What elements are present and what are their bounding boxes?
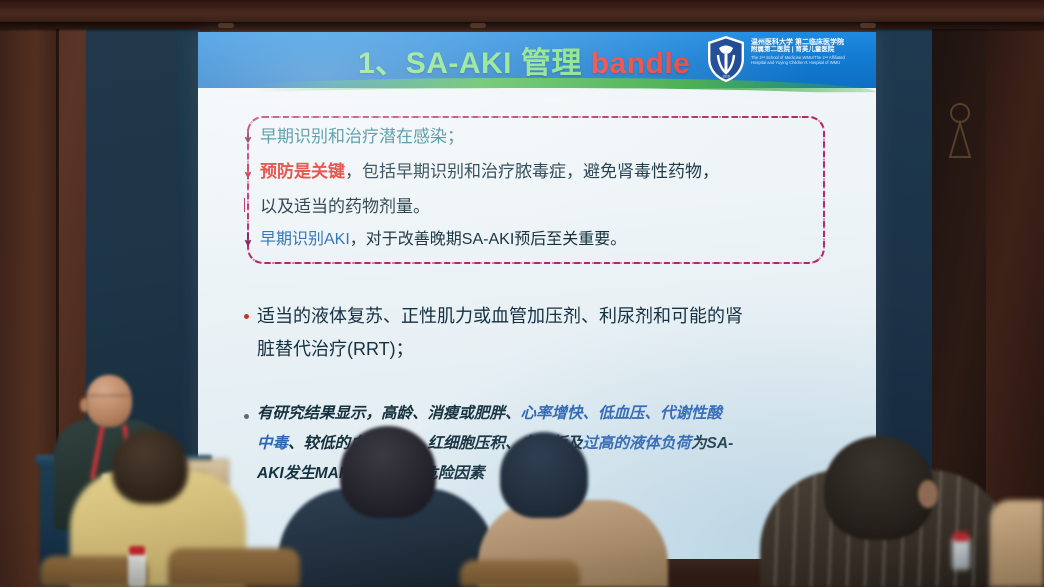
callout-line-2-rest: ，包括早期识别和治疗脓毒症，避免肾毒性药物， (345, 162, 719, 181)
rail-knob (860, 23, 876, 28)
bullet-dot-icon (244, 314, 249, 319)
wall-emblem-icon (938, 95, 982, 175)
logo-line-4: Hospital and Yuying Children's Hospital … (751, 61, 845, 65)
callout-tick-icon (244, 198, 253, 212)
water-bottle (128, 551, 146, 587)
callout-line-2: 预防是关键，包括早期识别和治疗脓毒症，避免肾毒性药物， (260, 163, 719, 180)
callout-arrow-icon (244, 163, 252, 179)
hospital-logo: 1919 温州医科大学 第二临床医学院 附属第二医院 | 育英儿童医院 The … (706, 35, 874, 85)
water-bottle-cap (129, 546, 145, 555)
rail-knob (218, 23, 234, 28)
callout-line-4: 早期识别AKI，对于改善晚期SA-AKI预后至关重要。 (260, 232, 626, 248)
callout-line-2-emphasis: 预防是关键 (260, 162, 345, 181)
bullet-3-line-2-c: 过高的液体负荷 (583, 435, 692, 452)
chair-back (168, 548, 300, 587)
bullet-2-line-2: 脏替代治疗(RRT)； (257, 340, 414, 358)
slide-banner-white-wave (198, 88, 876, 104)
bullet-3-line-1: 有研究结果显示，高龄、消瘦或肥胖、心率增快、低血压、代谢性酸 (257, 406, 722, 422)
bullet-3-line-1-b: 心率增快、低血压、代谢性酸 (521, 405, 723, 422)
callout-line-1-text: 早期识别和治疗潜在感染； (260, 127, 464, 146)
bullet-3-line-2-a: 中毒 (257, 435, 288, 452)
bullet-3-line-2-d: 为SA- (691, 435, 733, 452)
audience-striped-ear (918, 480, 938, 508)
callout-line-3: 以及适当的药物剂量。 (260, 198, 430, 215)
water-bottle-cap (953, 532, 969, 541)
bullet-3-line-2: 中毒、较低的血红蛋白、红细胞压积、血小板及过高的液体负荷为SA- (257, 436, 733, 452)
right-wall (986, 0, 1044, 587)
callout-line-4-emphasis: 早期识别AKI (260, 231, 350, 248)
bullet-3-line-1-a: 有研究结果显示，高龄、消瘦或肥胖、 (257, 405, 521, 422)
bullet-2-line-1: 适当的液体复苏、正性肌力或血管加压剂、利尿剂和可能的肾 (257, 307, 743, 325)
ceiling-band (0, 0, 1044, 24)
speaker-eyeglasses-icon (86, 395, 130, 405)
callout-line-1: 早期识别和治疗潜在感染； (260, 128, 464, 145)
slide-title-main: SA-AKI 管理 (406, 47, 591, 80)
water-bottle (952, 538, 970, 570)
svg-text:1919: 1919 (722, 75, 730, 79)
callout-line-4-rest: ，对于改善晚期SA-AKI预后至关重要。 (350, 231, 626, 248)
slide-title-highlight: bandle (591, 47, 691, 80)
callout-line-3-text: 以及适当的药物剂量。 (260, 197, 430, 216)
audience-navy-head (340, 426, 436, 518)
callout-arrow-icon (244, 128, 252, 144)
chair-back (460, 560, 580, 587)
audience-yellow-head (112, 430, 188, 504)
audience-far-right-body (990, 500, 1044, 587)
callout-arrow-icon (244, 231, 252, 247)
audience-striped-head (824, 436, 934, 540)
screenshot-root: 1、SA-AKI 管理 bandle 1919 温州医科大学 第二临床医学院 附… (0, 0, 1044, 587)
bullet-dot-icon (244, 414, 249, 419)
rail-knob (470, 23, 486, 28)
ceiling-rail (0, 22, 1044, 29)
slide-title-number: 1、 (358, 47, 406, 80)
logo-line-2: 附属第二医院 | 育英儿童医院 (751, 47, 845, 54)
audience-tan-head (500, 432, 588, 518)
hospital-logo-text: 温州医科大学 第二临床医学院 附属第二医院 | 育英儿童医院 The 2ⁿᵈ S… (751, 35, 845, 65)
shield-icon: 1919 (706, 35, 746, 83)
slide-title: 1、SA-AKI 管理 bandle (358, 38, 690, 82)
